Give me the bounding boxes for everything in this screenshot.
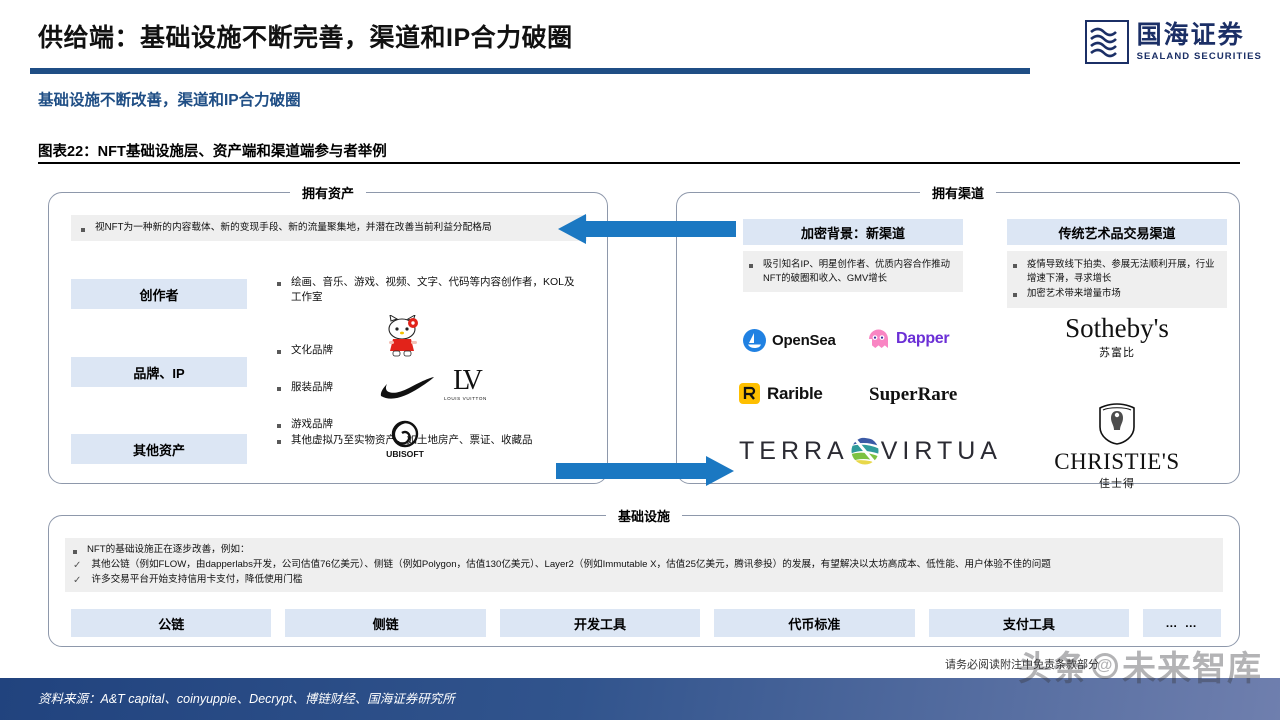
asset-category-other-assets[interactable]: 其他资产 bbox=[71, 434, 247, 464]
infra-bullet-3: 许多交易平台开始支持信用卡支付，降低使用门槛 bbox=[91, 573, 302, 587]
traditional-bullet-2: 加密艺术带来增量市场 bbox=[1027, 286, 1121, 300]
header-rule bbox=[30, 68, 1030, 74]
opensea-logo: OpenSea bbox=[743, 329, 836, 352]
infra-bullet-2: 其他公链（例如FLOW，由dapperlabs开发，公司估值76亿美元）、侧链（… bbox=[91, 558, 1051, 572]
watermark-text-right: 未来智库 bbox=[1122, 641, 1262, 690]
terra-virtua-globe-icon bbox=[850, 436, 880, 466]
terra-virtua-word-left: TERRA bbox=[739, 437, 849, 466]
nike-logo bbox=[379, 377, 435, 401]
infra-chip-side-chain[interactable]: 侧链 bbox=[285, 609, 485, 637]
section-subheading: 基础设施不断改善，渠道和IP合力破圈 bbox=[38, 88, 301, 110]
assets-panel: 拥有资产 视NFT为一种新的内容载体、新的变现手段、新的流量聚集地，并潜在改善当… bbox=[48, 192, 608, 484]
assets-lead-bullet: 视NFT为一种新的内容载体、新的变现手段、新的流量聚集地，并潜在改善当前利益分配… bbox=[71, 215, 587, 241]
company-logo: 国海证券 SEALAND SECURITIES bbox=[1085, 20, 1262, 64]
infrastructure-bullets: NFT的基础设施正在逐步改善，例如： ✓ 其他公链（例如FLOW，由dapper… bbox=[65, 538, 1223, 592]
infra-chip-public-chain[interactable]: 公链 bbox=[71, 609, 271, 637]
bullet-marker-icon bbox=[277, 424, 281, 428]
sealand-wave-mark-icon bbox=[1085, 20, 1129, 64]
bullet-marker-icon bbox=[277, 282, 281, 286]
infra-chip-token-standard[interactable]: 代币标准 bbox=[714, 609, 914, 637]
rarible-logo: Rarible bbox=[739, 383, 823, 404]
infra-chip-dev-tools[interactable]: 开发工具 bbox=[500, 609, 700, 637]
svg-text:UBISOFT: UBISOFT bbox=[386, 449, 424, 459]
bullet-marker-icon bbox=[277, 387, 281, 391]
dapper-logo: Dapper bbox=[867, 329, 949, 348]
terra-virtua-logo: TERRA VIRTUA bbox=[739, 436, 1002, 466]
creator-bullet-text: 绘画、音乐、游戏、视频、文字、代码等内容创作者，KOL及工作室 bbox=[291, 275, 577, 305]
sothebys-wordmark-cn: 苏富比 bbox=[1007, 344, 1227, 360]
bullet-marker-icon bbox=[81, 228, 85, 232]
source-line: 资料来源：A&T capital、coinyuppie、Decrypt、博链财经… bbox=[38, 688, 455, 707]
watermark: 头条 @ 未来智库 bbox=[1018, 641, 1262, 690]
channels-panel: 拥有渠道 加密背景：新渠道 吸引知名IP、明星创作者、优质内容合作推动NFT的破… bbox=[676, 192, 1240, 484]
infra-chip-payment-tools[interactable]: 支付工具 bbox=[929, 609, 1129, 637]
page-title: 供给端：基础设施不断完善，渠道和IP合力破圈 bbox=[38, 18, 573, 54]
traditional-channel-bullets: 疫情导致线下拍卖、参展无法顺利开展，行业增速下滑，寻求增长 加密艺术带来增量市场 bbox=[1007, 251, 1227, 308]
channels-panel-label: 拥有渠道 bbox=[920, 183, 996, 202]
infrastructure-chip-row: 公链 侧链 开发工具 代币标准 支付工具 … … bbox=[71, 609, 1221, 637]
terra-virtua-word-right: VIRTUA bbox=[881, 437, 1002, 466]
brand-bullet-game: 游戏品牌 bbox=[291, 417, 333, 432]
christies-logo: CHRISTIE'S 佳士得 bbox=[1007, 403, 1227, 491]
traditional-channel-heading: 传统艺术品交易渠道 bbox=[1007, 219, 1227, 245]
asset-category-creator[interactable]: 创作者 bbox=[71, 279, 247, 309]
infra-chip-more[interactable]: … … bbox=[1143, 609, 1221, 637]
bullet-marker-icon bbox=[749, 264, 753, 268]
traditional-bullet-1: 疫情导致线下拍卖、参展无法顺利开展，行业增速下滑，寻求增长 bbox=[1027, 257, 1219, 284]
check-marker-icon: ✓ bbox=[73, 576, 81, 586]
rarible-mark-icon bbox=[739, 383, 760, 404]
figure-title: 图表22：NFT基础设施层、资产端和渠道端参与者举例 bbox=[38, 140, 387, 161]
ubisoft-logo: UBISOFT bbox=[385, 419, 425, 459]
infra-bullet-1: NFT的基础设施正在逐步改善，例如： bbox=[87, 543, 250, 557]
bullet-marker-icon bbox=[1013, 264, 1017, 268]
watermark-text-left: 头条 bbox=[1018, 641, 1088, 690]
sothebys-wordmark: Sotheby's bbox=[1007, 315, 1227, 342]
slide: 供给端：基础设施不断完善，渠道和IP合力破圈 国海证券 SEALAND SECU… bbox=[0, 0, 1280, 720]
assets-panel-label: 拥有资产 bbox=[290, 183, 366, 202]
assets-lead-text: 视NFT为一种新的内容载体、新的变现手段、新的流量聚集地，并潜在改善当前利益分配… bbox=[95, 221, 492, 235]
opensea-wordmark: OpenSea bbox=[772, 332, 836, 349]
sothebys-logo: Sotheby's 苏富比 bbox=[1007, 315, 1227, 360]
rarible-wordmark: Rarible bbox=[767, 384, 823, 404]
bullet-marker-icon bbox=[1013, 293, 1017, 297]
crypto-channel-heading: 加密背景：新渠道 bbox=[743, 219, 963, 245]
traditional-channel-column: 传统艺术品交易渠道 疫情导致线下拍卖、参展无法顺利开展，行业增速下滑，寻求增长 … bbox=[1007, 219, 1227, 308]
dapper-mark-icon bbox=[867, 329, 890, 348]
logo-name-cn: 国海证券 bbox=[1137, 22, 1245, 48]
infrastructure-panel-label: 基础设施 bbox=[606, 506, 682, 525]
bullet-marker-icon bbox=[73, 550, 77, 554]
crypto-channel-column: 加密背景：新渠道 吸引知名IP、明星创作者、优质内容合作推动NFT的破圈和收入、… bbox=[743, 219, 963, 292]
crypto-channel-bullets: 吸引知名IP、明星创作者、优质内容合作推动NFT的破圈和收入、GMV增长 bbox=[743, 251, 963, 292]
brand-bullet-culture: 文化品牌 bbox=[291, 343, 333, 358]
christies-crest-icon bbox=[1096, 403, 1138, 445]
bullet-marker-icon bbox=[277, 350, 281, 354]
christies-wordmark: CHRISTIE'S bbox=[1007, 450, 1227, 473]
asset-category-brand-ip[interactable]: 品牌、IP bbox=[71, 357, 247, 387]
logo-name-en: SEALAND SECURITIES bbox=[1137, 51, 1262, 62]
check-marker-icon: ✓ bbox=[73, 561, 81, 571]
watermark-at-icon: @ bbox=[1092, 653, 1118, 679]
brand-bullet-apparel: 服装品牌 bbox=[291, 380, 333, 395]
opensea-mark-icon bbox=[743, 329, 766, 352]
bullet-marker-icon bbox=[277, 440, 281, 444]
dapper-wordmark: Dapper bbox=[896, 330, 949, 348]
figure-rule bbox=[38, 162, 1240, 164]
creator-bullets: 绘画、音乐、游戏、视频、文字、代码等内容创作者，KOL及工作室 bbox=[277, 275, 577, 305]
hello-kitty-logo bbox=[385, 315, 421, 357]
christies-wordmark-cn: 佳士得 bbox=[1007, 475, 1227, 491]
infrastructure-panel: 基础设施 NFT的基础设施正在逐步改善，例如： ✓ 其他公链（例如FLOW，由d… bbox=[48, 515, 1240, 647]
arrow-assets-from-channels bbox=[556, 214, 736, 244]
arrow-assets-to-channels bbox=[556, 456, 736, 486]
crypto-bullet-text: 吸引知名IP、明星创作者、优质内容合作推动NFT的破圈和收入、GMV增长 bbox=[763, 257, 955, 284]
louis-vuitton-logo: LV LOUIS VUITTON bbox=[444, 368, 487, 401]
superrare-logo: SuperRare bbox=[869, 384, 957, 406]
